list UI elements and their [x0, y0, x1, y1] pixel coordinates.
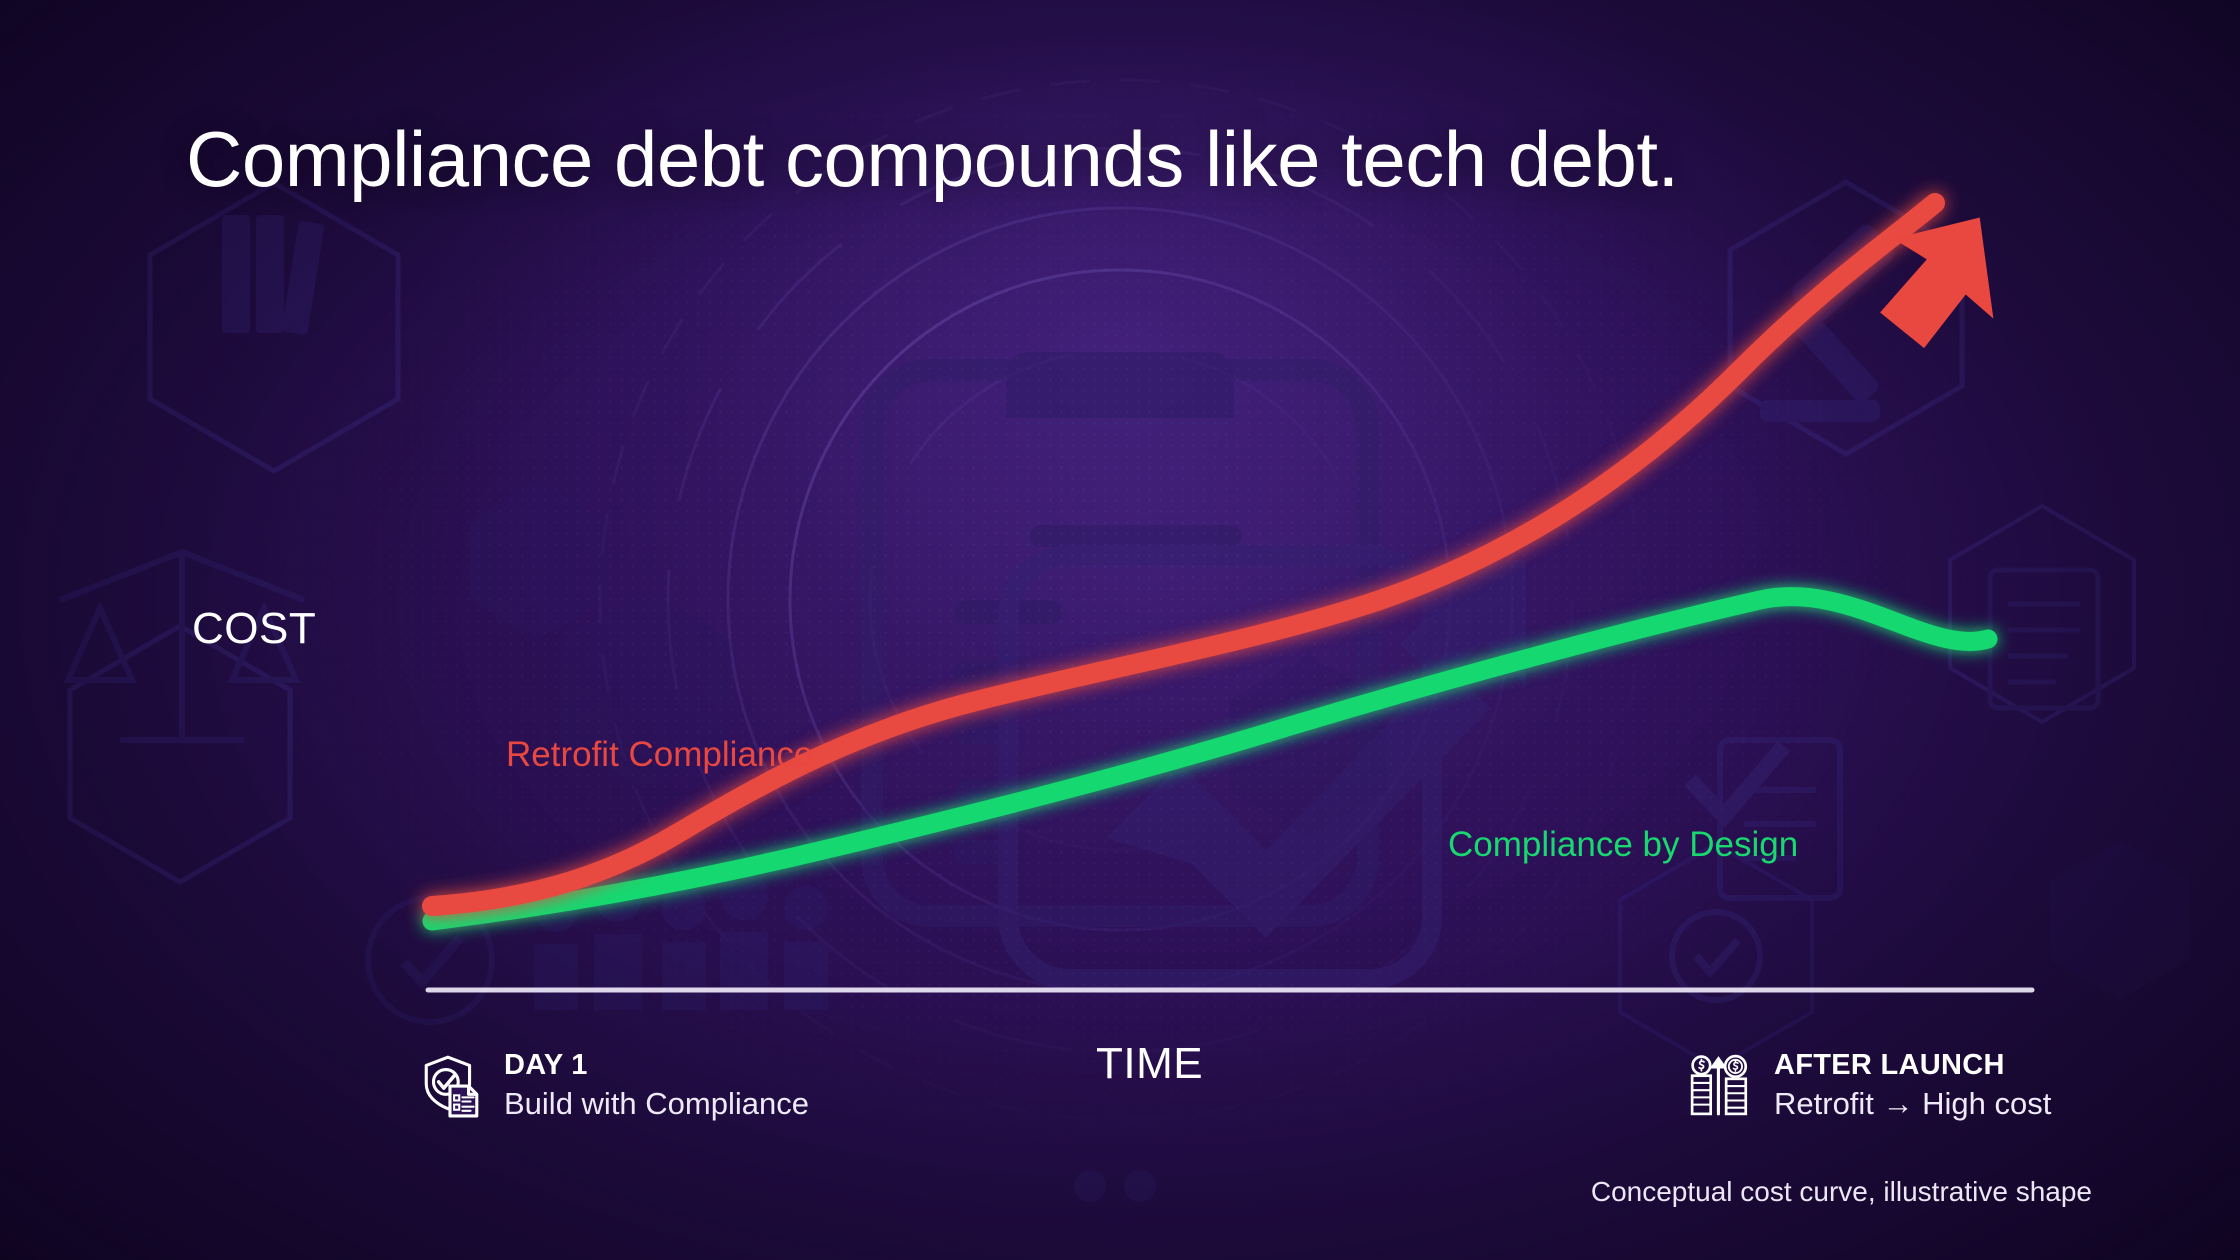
x-axis-label: TIME: [1096, 1039, 1203, 1089]
series-line-retrofit-compliance: [432, 203, 1935, 906]
annotation-day-1: DAY 1 Build with Compliance: [418, 1048, 809, 1122]
annotation-after-launch-heading: AFTER LAUNCH: [1774, 1048, 2051, 1082]
y-axis-label: COST: [192, 604, 316, 654]
slide-canvas: Compliance debt compounds like tech debt…: [0, 0, 2240, 1260]
annotation-after-launch-subtext: Retrofit → High cost: [1774, 1085, 2051, 1122]
series-label-retrofit-compliance: Retrofit Compliance: [506, 735, 813, 775]
annotation-day-1-text: DAY 1 Build with Compliance: [504, 1048, 809, 1122]
footnote-caption: Conceptual cost curve, illustrative shap…: [1591, 1176, 2092, 1208]
annotation-after-launch: AFTER LAUNCH Retrofit → High cost: [1688, 1048, 2051, 1122]
series-label-compliance-by-design: Compliance by Design: [1448, 825, 1798, 865]
shield-check-document-icon: [418, 1052, 484, 1118]
coin-stacks-up-arrow-icon: [1688, 1052, 1754, 1118]
annotation-after-launch-text: AFTER LAUNCH Retrofit → High cost: [1774, 1048, 2051, 1122]
annotation-day-1-heading: DAY 1: [504, 1048, 809, 1082]
annotation-day-1-subtext: Build with Compliance: [504, 1085, 809, 1122]
